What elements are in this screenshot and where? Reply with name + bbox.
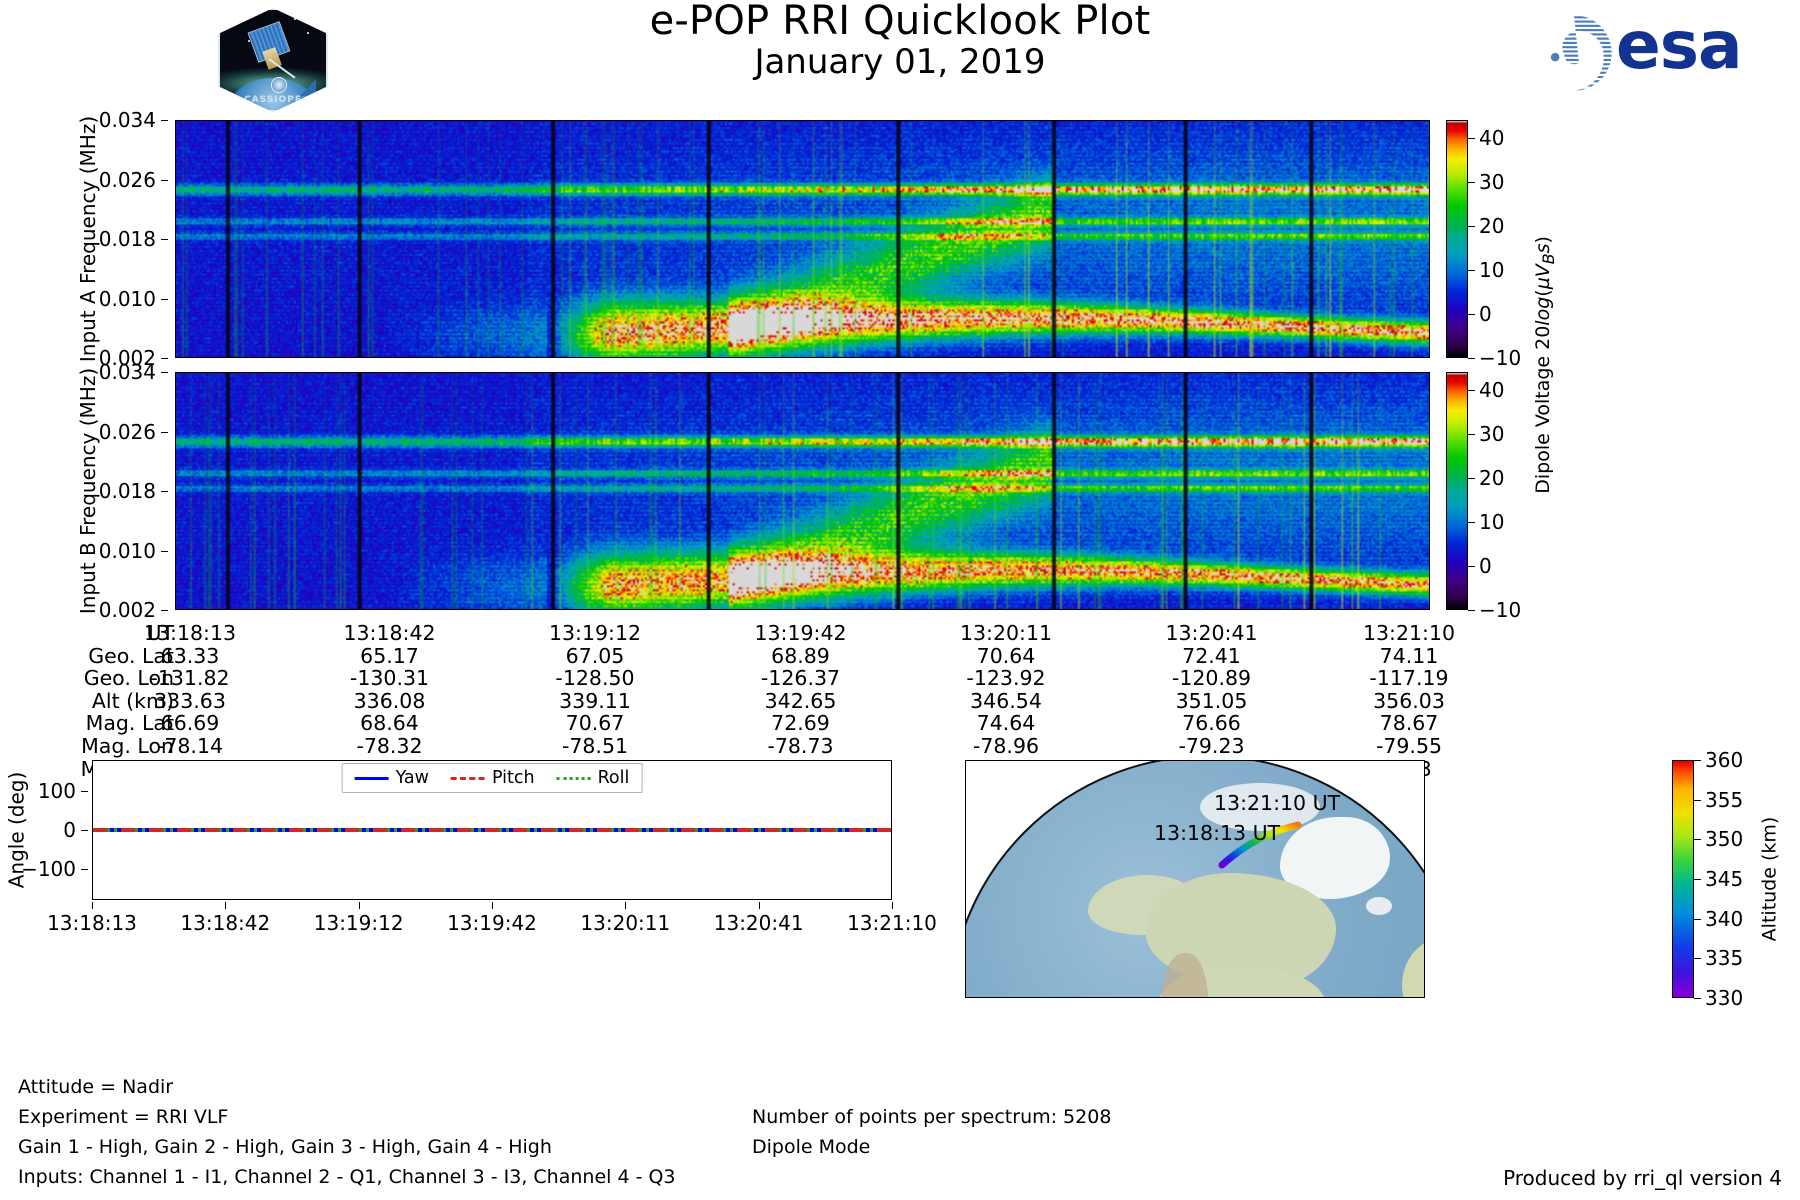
legend-line-roll (557, 777, 591, 780)
cassiope-logo: CASSIOPE (218, 8, 328, 112)
frequency-tick-mark (161, 610, 168, 611)
colorbar-tick-mark (1468, 390, 1475, 391)
colorbar-tick-label: 40 (1479, 378, 1504, 402)
ground-track-map[interactable]: 13:21:10 UT 13:18:13 UT (965, 760, 1425, 998)
attitude-ytick-axis: 1000−100 (26, 760, 88, 900)
produced-by-label: Produced by rri_ql version 4 (1503, 1166, 1782, 1190)
colorbar-tick-label: 30 (1479, 170, 1504, 194)
spectrogram-b-ytick-axis: 0.0340.0260.0180.0100.002 (100, 372, 168, 610)
footer-line: Gain 1 - High, Gain 2 - High, Gain 3 - H… (18, 1132, 676, 1162)
legend-line-pitch (451, 777, 485, 780)
ephemeris-cell: 346.54 (970, 690, 1042, 713)
colorbar-tick-mark (1694, 958, 1701, 959)
colorbar-tick-mark (1468, 478, 1475, 479)
colorbar-tick-mark (1694, 998, 1701, 999)
ephemeris-cell: -123.92 (966, 667, 1045, 690)
attitude-ytick-mark (81, 869, 88, 870)
ephemeris-cell: -78.96 (973, 735, 1039, 758)
ephemeris-cell: 13:19:42 (754, 622, 846, 645)
colorbar-tick-mark (1468, 138, 1475, 139)
colorbar-tick-label: −10 (1479, 598, 1521, 622)
attitude-legend: YawPitchRoll (342, 763, 643, 793)
colorbar-tick-mark (1468, 566, 1475, 567)
spectrogram-b-ylabel: Input B Frequency (MHz) (76, 368, 100, 614)
frequency-tick-mark (161, 491, 168, 492)
ephemeris-cell: 72.69 (771, 712, 830, 735)
frequency-tick-label: 0.018 (99, 479, 156, 503)
ephemeris-cell: 63.33 (161, 645, 220, 668)
spectrogram-a-image (176, 121, 1429, 357)
altitude-colorbar-label-wrap: Altitude (km) (1754, 760, 1784, 998)
altitude-colorbar-ticks: 360355350345340335330 (1694, 760, 1754, 998)
colorbar-tick-label: 10 (1479, 258, 1504, 282)
ephemeris-cell: 339.11 (559, 690, 631, 713)
ephemeris-cell: -78.51 (562, 735, 628, 758)
ephemeris-cell: -117.19 (1369, 667, 1448, 690)
ephemeris-cell: 13:18:13 (144, 622, 236, 645)
colorbar-tick-mark (1694, 919, 1701, 920)
frequency-tick-mark (161, 180, 168, 181)
frequency-tick-label: 0.010 (99, 539, 156, 563)
colorbar-tick-mark (1468, 358, 1475, 359)
ephemeris-cell: 68.64 (360, 712, 419, 735)
attitude-plot[interactable]: YawPitchRoll (92, 760, 892, 900)
colorbar-tick-label: 345 (1705, 867, 1743, 891)
frequency-tick-label: 0.026 (99, 168, 156, 192)
attitude-xtick-mark (92, 902, 93, 909)
frequency-tick-mark (161, 372, 168, 373)
colorbar-a (1446, 120, 1468, 358)
colorbar-label: Dipole Voltage 20log(µVBs) (1532, 236, 1558, 494)
map-start-time-label: 13:18:13 UT (1154, 821, 1280, 845)
ephemeris-cell: 70.64 (977, 645, 1036, 668)
footer-line: Number of points per spectrum: 5208 (752, 1102, 1111, 1132)
ephemeris-cell: 356.03 (1373, 690, 1445, 713)
ephemeris-cell: 74.11 (1380, 645, 1439, 668)
colorbar-tick-mark (1468, 434, 1475, 435)
colorbar-tick-label: 340 (1705, 907, 1743, 931)
legend-item-pitch: Pitch (451, 768, 535, 788)
spectrogram-b-image (176, 373, 1429, 609)
colorbar-b (1446, 372, 1468, 610)
colorbar-label-wrap: Dipole Voltage 20log(µVBs) (1530, 120, 1560, 610)
cassiope-logo-text: CASSIOPE (220, 95, 326, 105)
colorbar-tick-mark (1468, 314, 1475, 315)
frequency-tick-label: 0.010 (99, 287, 156, 311)
colorbar-tick-mark (1468, 270, 1475, 271)
attitude-xtick-label: 13:20:11 (580, 911, 670, 935)
attitude-series-lines (93, 828, 891, 832)
colorbar-tick-label: −10 (1479, 346, 1521, 370)
legend-label: Roll (598, 768, 630, 788)
footer-line: Inputs: Channel 1 - I1, Channel 2 - Q1, … (18, 1162, 676, 1192)
legend-label: Pitch (492, 768, 535, 788)
attitude-xtick-label: 13:21:10 (847, 911, 937, 935)
colorbar-tick-mark (1694, 800, 1701, 801)
altitude-colorbar (1672, 760, 1694, 998)
colorbar-tick-label: 40 (1479, 126, 1504, 150)
colorbar-tick-label: 335 (1705, 946, 1743, 970)
frequency-tick-label: 0.034 (99, 360, 156, 384)
attitude-xtick-label: 13:18:42 (180, 911, 270, 935)
ephemeris-cell: 78.67 (1380, 712, 1439, 735)
ephemeris-cell: 13:21:10 (1363, 622, 1455, 645)
ephemeris-cell: 66.69 (161, 712, 220, 735)
colorbar-tick-label: 355 (1705, 788, 1743, 812)
ephemeris-cell: 342.65 (765, 690, 837, 713)
attitude-xtick-label: 13:20:41 (714, 911, 804, 935)
ephemeris-cell: 336.08 (354, 690, 426, 713)
ephemeris-cell: 74.64 (977, 712, 1036, 735)
frequency-tick-mark (161, 432, 168, 433)
ephemeris-cell: -120.89 (1172, 667, 1251, 690)
ephemeris-cell: -79.23 (1178, 735, 1244, 758)
ephemeris-cell: 67.05 (566, 645, 625, 668)
legend-item-yaw: Yaw (355, 768, 429, 788)
ephemeris-cell: 351.05 (1176, 690, 1248, 713)
ephemeris-cell: 72.41 (1182, 645, 1241, 668)
ephemeris-cell: 333.63 (154, 690, 226, 713)
colorbar-tick-label: 30 (1479, 422, 1504, 446)
ephemeris-cell: 13:18:42 (343, 622, 435, 645)
colorbar-tick-mark (1468, 522, 1475, 523)
attitude-xtick-label: 13:19:12 (314, 911, 404, 935)
frequency-tick-mark (161, 358, 168, 359)
spectrogram-a[interactable] (175, 120, 1430, 358)
colorbar-tick-mark (1468, 226, 1475, 227)
attitude-xtick-mark (492, 902, 493, 909)
ephemeris-cell: -79.55 (1376, 735, 1442, 758)
attitude-xtick-label: 13:18:13 (47, 911, 137, 935)
colorbar-tick-mark (1694, 879, 1701, 880)
ephemeris-row: Geo. Lat63.3365.1767.0568.8970.6472.4174… (0, 645, 1470, 668)
attitude-xtick-mark (225, 902, 226, 909)
ephemeris-cell: 70.67 (566, 712, 625, 735)
ephemeris-row: Mag. Lon-78.14-78.32-78.51-78.73-78.96-7… (0, 735, 1470, 758)
spectrogram-a-ylabel: Input A Frequency (MHz) (76, 116, 100, 362)
ephemeris-cell: -131.82 (150, 667, 229, 690)
altitude-colorbar-label: Altitude (km) (1758, 817, 1780, 942)
ephemeris-row: UT13:18:1313:18:4213:19:1213:19:4213:20:… (0, 622, 1470, 645)
frequency-tick-label: 0.034 (99, 108, 156, 132)
ephemeris-cell: 13:19:12 (549, 622, 641, 645)
frequency-tick-mark (161, 239, 168, 240)
colorbar-tick-label: 0 (1479, 554, 1492, 578)
attitude-ytick-mark (81, 791, 88, 792)
colorbar-tick-label: 20 (1479, 466, 1504, 490)
colorbar-tick-label: 0 (1479, 302, 1492, 326)
esa-logo-text: esa (1616, 14, 1742, 79)
ephemeris-cell: -78.32 (356, 735, 422, 758)
attitude-ytick-label: −100 (21, 857, 76, 881)
legend-label: Yaw (396, 768, 429, 788)
colorbar-tick-label: 350 (1705, 827, 1743, 851)
ephemeris-cell: -130.31 (350, 667, 429, 690)
colorbar-tick-label: 10 (1479, 510, 1504, 534)
attitude-xtick-mark (759, 902, 760, 909)
ephemeris-cell: 13:20:11 (960, 622, 1052, 645)
frequency-tick-label: 0.002 (99, 598, 156, 622)
ephemeris-cell: -128.50 (555, 667, 634, 690)
attitude-xtick-mark (892, 902, 893, 909)
ephemeris-row: Geo. Lon-131.82-130.31-128.50-126.37-123… (0, 667, 1470, 690)
attitude-ytick-label: 0 (63, 818, 76, 842)
globe (965, 760, 1425, 998)
footer-left: Attitude = NadirExperiment = RRI VLFGain… (18, 1072, 676, 1192)
legend-line-yaw (355, 777, 389, 780)
attitude-ytick-mark (81, 830, 88, 831)
colorbar-tick-label: 20 (1479, 214, 1504, 238)
footer-line: Experiment = RRI VLF (18, 1102, 676, 1132)
frequency-tick-mark (161, 299, 168, 300)
colorbar-a-ticks: 403020100−10 (1468, 120, 1528, 358)
ephemeris-row: Mag. Lat66.6968.6470.6772.6974.6476.6678… (0, 712, 1470, 735)
colorbar-tick-mark (1468, 182, 1475, 183)
frequency-tick-label: 0.018 (99, 227, 156, 251)
attitude-xtick-axis: 13:18:1313:18:4213:19:1213:19:4213:20:11… (92, 902, 892, 936)
spectrogram-a-ytick-axis: 0.0340.0260.0180.0100.002 (100, 120, 168, 358)
ephemeris-row: Alt (km)333.63336.08339.11342.65346.5435… (0, 690, 1470, 713)
ephemeris-cell: 65.17 (360, 645, 419, 668)
colorbar-tick-mark (1694, 760, 1701, 761)
attitude-xtick-mark (359, 902, 360, 909)
esa-swirl-icon (1530, 12, 1618, 94)
footer-mid: Number of points per spectrum: 5208Dipol… (752, 1102, 1111, 1162)
footer-line: Attitude = Nadir (18, 1072, 676, 1102)
colorbar-tick-mark (1468, 610, 1475, 611)
frequency-tick-mark (161, 551, 168, 552)
colorbar-tick-label: 330 (1705, 986, 1743, 1010)
colorbar-b-ticks: 403020100−10 (1468, 372, 1528, 610)
ephemeris-cell: 76.66 (1182, 712, 1241, 735)
esa-logo: esa (1530, 10, 1758, 96)
ephemeris-cell: 68.89 (771, 645, 830, 668)
attitude-xtick-mark (625, 902, 626, 909)
ephemeris-cell: -126.37 (761, 667, 840, 690)
ephemeris-cell: 13:20:41 (1165, 622, 1257, 645)
attitude-xtick-label: 13:19:42 (447, 911, 537, 935)
attitude-ytick-label: 100 (38, 779, 76, 803)
colorbar-tick-label: 360 (1705, 748, 1743, 772)
ephemeris-table: UT13:18:1313:18:4213:19:1213:19:4213:20:… (0, 622, 1470, 780)
ephemeris-cell: -78.73 (767, 735, 833, 758)
frequency-tick-mark (161, 120, 168, 121)
satellite-ground-track (965, 760, 1425, 998)
frequency-tick-label: 0.026 (99, 420, 156, 444)
colorbar-tick-mark (1694, 839, 1701, 840)
spectrogram-b[interactable] (175, 372, 1430, 610)
legend-item-roll: Roll (557, 768, 630, 788)
ephemeris-cell: -78.14 (157, 735, 223, 758)
footer-line: Dipole Mode (752, 1132, 1111, 1162)
map-end-time-label: 13:21:10 UT (1214, 791, 1340, 815)
